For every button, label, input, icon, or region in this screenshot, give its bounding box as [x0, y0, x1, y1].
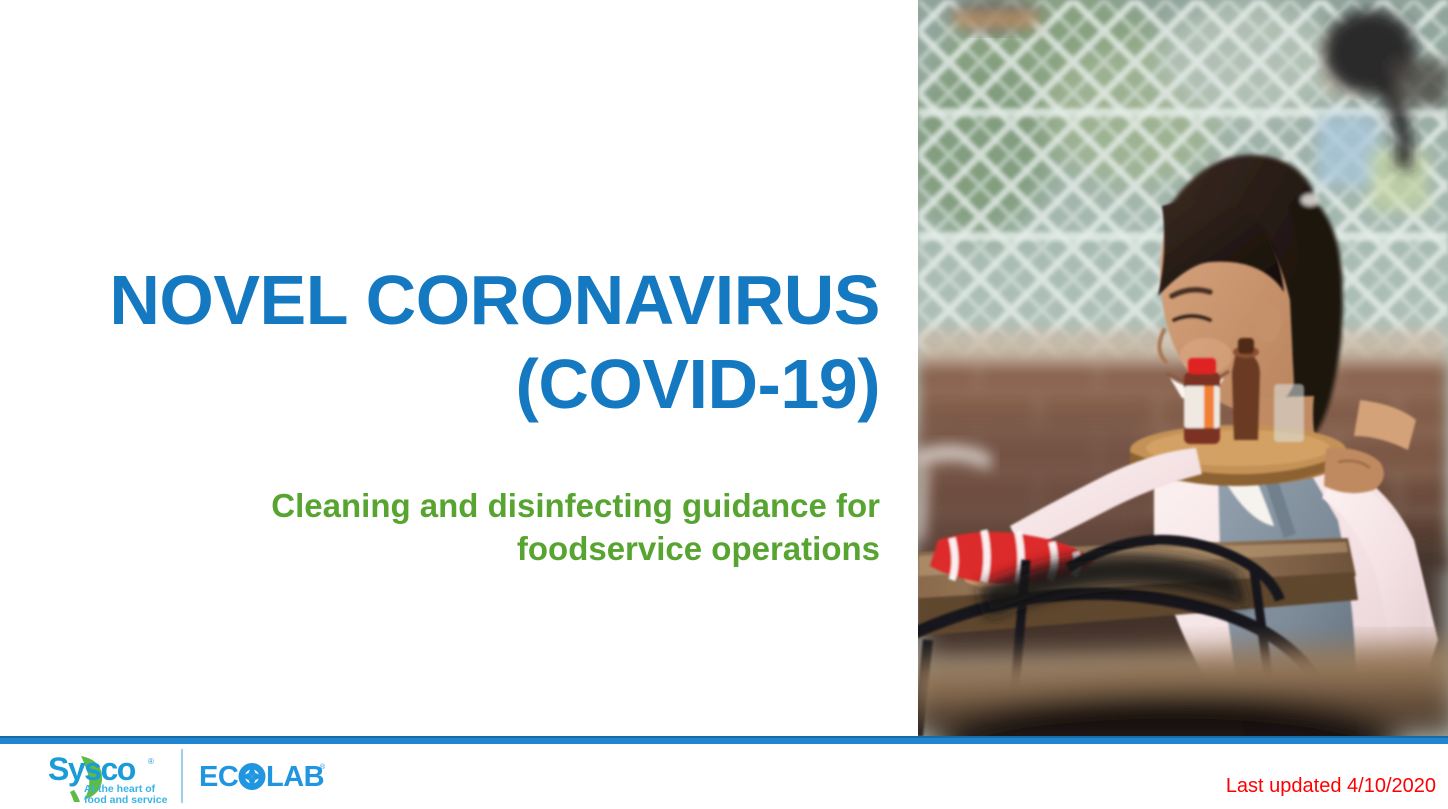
- title-pane: NOVEL CORONAVIRUS (COVID-19) Cleaning an…: [0, 0, 918, 736]
- ecolab-logo: EC LAB ®: [199, 760, 327, 794]
- page-subtitle: Cleaning and disinfecting guidance for f…: [120, 484, 880, 570]
- svg-text:Sysco: Sysco: [48, 751, 136, 787]
- sysco-logo-mark: Sysco ® At the heart of food and service: [48, 750, 168, 806]
- hero-photo: [918, 0, 1448, 736]
- hero-photo-illustration: [918, 0, 1448, 736]
- slide-footer: Sysco ® At the heart of food and service…: [0, 744, 1448, 809]
- svg-text:EC: EC: [199, 761, 239, 793]
- footer-divider-rule: [0, 736, 1448, 744]
- sysco-logo: Sysco ® At the heart of food and service: [48, 750, 168, 806]
- ecolab-logo-mark: EC LAB ®: [199, 760, 327, 794]
- last-updated-label: Last updated 4/10/2020: [1226, 775, 1436, 798]
- svg-text:food and service: food and service: [84, 794, 168, 806]
- footer-logo-divider: [181, 749, 183, 803]
- svg-text:LAB: LAB: [266, 761, 324, 793]
- page-title: NOVEL CORONAVIRUS (COVID-19): [40, 258, 880, 426]
- svg-text:®: ®: [320, 763, 326, 771]
- svg-text:®: ®: [148, 757, 154, 766]
- presentation-slide: NOVEL CORONAVIRUS (COVID-19) Cleaning an…: [0, 0, 1448, 809]
